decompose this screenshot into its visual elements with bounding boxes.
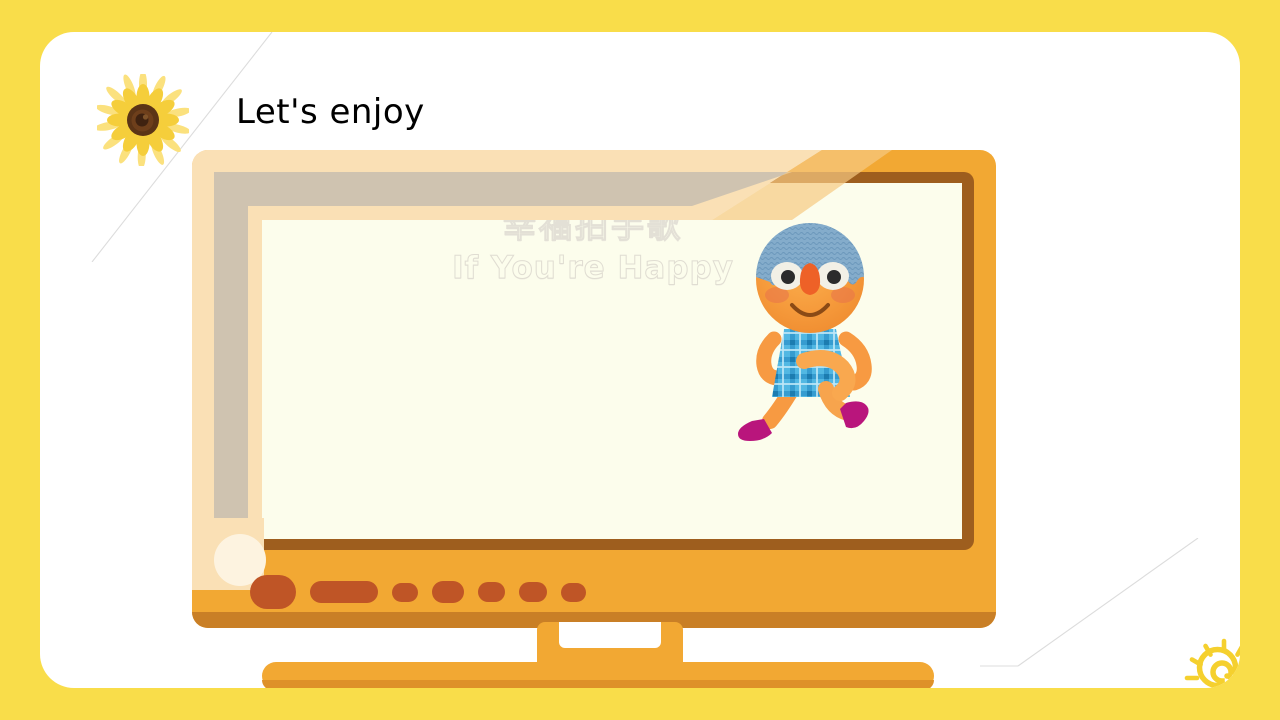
- control-button-5[interactable]: [561, 583, 586, 602]
- slide-canvas: Let's enjoy 幸福拍手歌 If You're Happy: [0, 0, 1280, 720]
- control-button-2[interactable]: [432, 581, 464, 603]
- content-card: Let's enjoy 幸福拍手歌 If You're Happy: [40, 32, 1240, 688]
- monitor-control-buttons: [250, 575, 586, 609]
- power-button[interactable]: [250, 575, 296, 609]
- menu-button[interactable]: [310, 581, 378, 603]
- sunflower-icon: [97, 74, 189, 166]
- monitor-stand-notch: [559, 622, 661, 648]
- monitor-screen[interactable]: 幸福拍手歌 If You're Happy: [224, 183, 962, 539]
- control-button-4[interactable]: [519, 582, 547, 602]
- page-title: Let's enjoy: [236, 92, 425, 132]
- sun-doodle-icon: [1176, 632, 1240, 688]
- monitor-illustration: 幸福拍手歌 If You're Happy: [192, 150, 996, 628]
- control-button-3[interactable]: [478, 582, 505, 602]
- control-button-1[interactable]: [392, 583, 418, 602]
- monitor-stand-shadow: [262, 680, 934, 688]
- cartoon-girl-character: [722, 221, 898, 451]
